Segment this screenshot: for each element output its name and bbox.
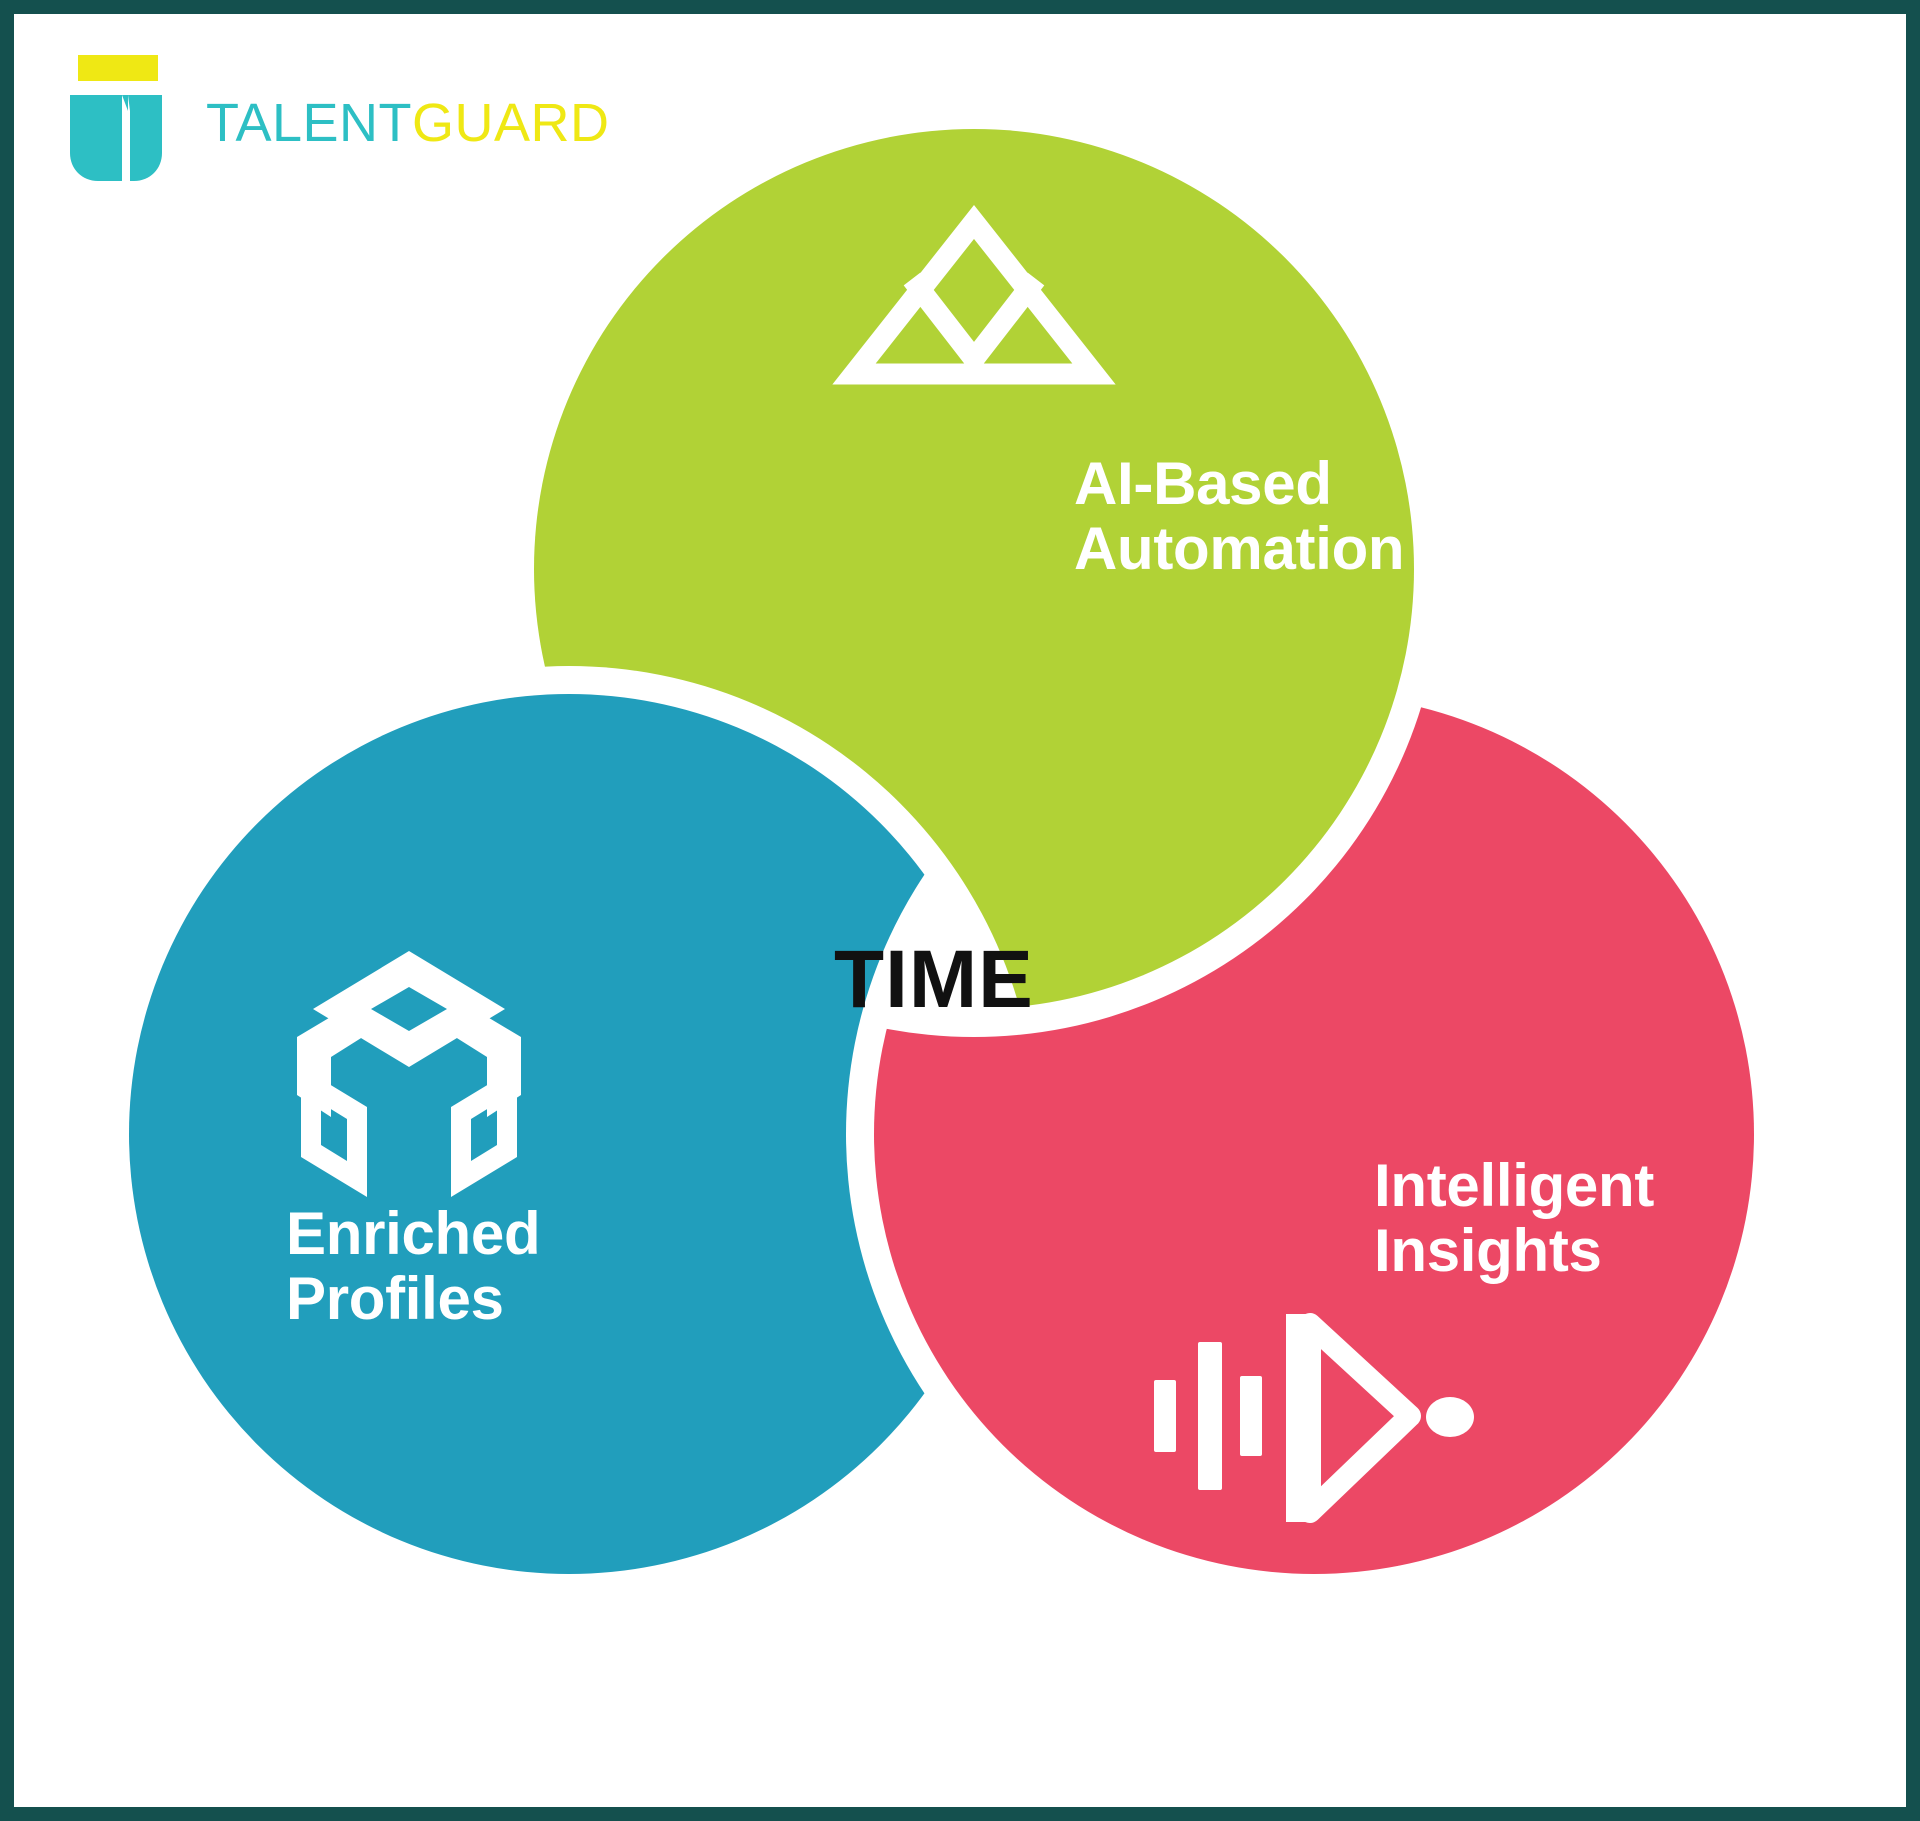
venn-label-enriched-profiles: Enriched Profiles — [286, 1202, 540, 1332]
venn-label-intelligent-insights: Intelligent Insights — [1374, 1154, 1654, 1284]
diagram-canvas: TALENTGUARD — [0, 0, 1920, 1821]
venn-diagram — [14, 14, 1904, 1805]
venn-circle-intelligent-insights[interactable] — [874, 694, 1754, 1574]
venn-label-ai-based-automation: AI-Based Automation — [1074, 452, 1404, 582]
venn-center-label-time: TIME — [834, 939, 1034, 1021]
